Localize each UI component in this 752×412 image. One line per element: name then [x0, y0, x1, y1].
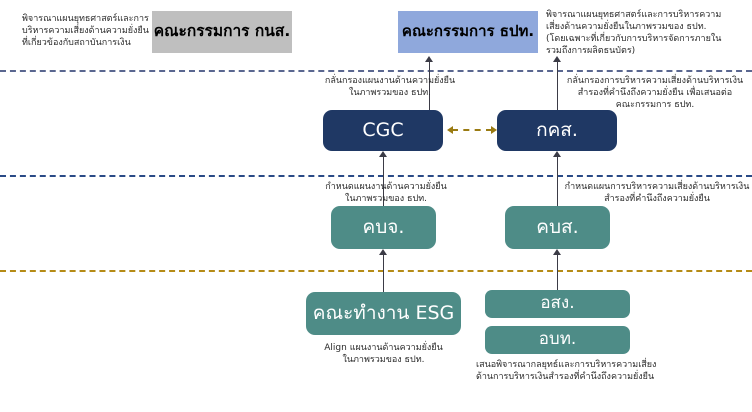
box-obt[interactable]: อบท.: [485, 326, 630, 354]
box-cgc[interactable]: CGC: [323, 110, 443, 151]
box-osg[interactable]: อสง.: [485, 290, 630, 318]
box-kbs[interactable]: คบส.: [505, 206, 610, 249]
cgc-role-caption: กลั่นกรองแผนงานด้านความยั่งยืน ในภาพรวมข…: [300, 76, 480, 100]
box-bot-committee[interactable]: คณะกรรมการ ธปท.: [398, 11, 538, 53]
box-kks[interactable]: กคส.: [497, 110, 617, 151]
kns-description-caption: พิจารณาแผนยุทธศาสตร์และการ บริหารความเสี…: [22, 14, 150, 50]
divider-board-level: [0, 70, 752, 72]
bot-description-caption: พิจารณาแผนยุทธศาสตร์และการบริหารความ เสี…: [546, 10, 746, 58]
box-kbj[interactable]: คบจ.: [331, 206, 436, 249]
box-kns-committee[interactable]: คณะกรรมการ กนส.: [152, 11, 292, 53]
kks-role-caption: กลั่นกรองการบริหารความเสี่ยงด้านบริหารเง…: [560, 76, 750, 112]
esg-role-caption: Align แผนงานด้านความยั่งยืน ในภาพรวมของ …: [306, 343, 461, 367]
connector-esg-to-kbj: [383, 255, 384, 292]
box-esg-working-group[interactable]: คณะทำงาน ESG: [306, 292, 461, 335]
connector-osg-to-kbs: [557, 255, 558, 292]
org-diagram-canvas: พิจารณาแผนยุทธศาสตร์และการ บริหารความเสี…: [0, 0, 752, 412]
kbs-role-caption: กำหนดแผนการบริหารความเสี่ยงด้านบริหารเงิ…: [562, 182, 752, 206]
divider-working-level: [0, 270, 752, 272]
arrow-cgc-kks-right-head: [491, 126, 497, 134]
connector-kks-to-bot: [557, 62, 558, 110]
divider-committee-level: [0, 175, 752, 177]
kbj-role-caption: กำหนดแผนงานด้านความยั่งยืน ในภาพรวมของ ธ…: [296, 182, 476, 206]
connector-kbs-to-kks: [557, 157, 558, 207]
osg-obt-role-caption: เสนอพิจารณากลยุทธ์และการบริหารความเสี่ยง…: [476, 360, 706, 384]
connector-cgc-kks-dashed: [452, 129, 492, 131]
